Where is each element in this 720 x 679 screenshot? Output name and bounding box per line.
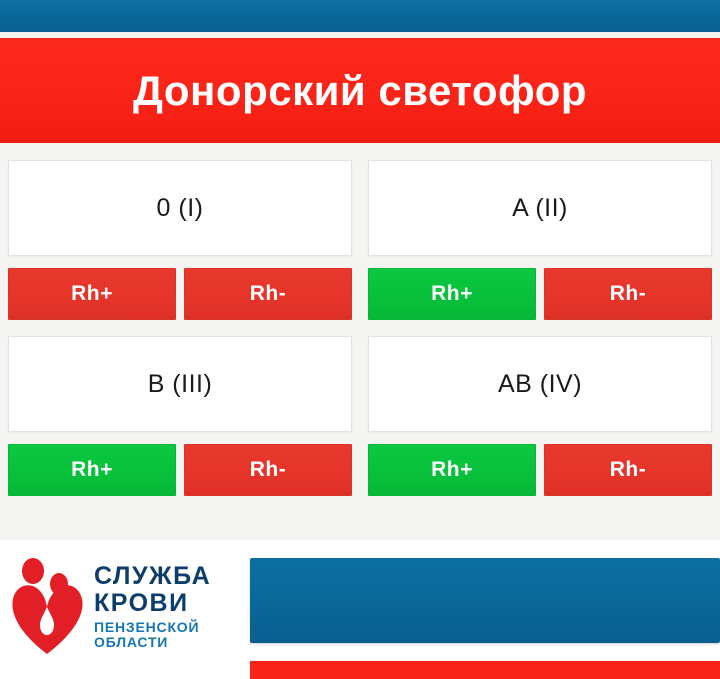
blood-type-label: A (II) bbox=[512, 194, 568, 223]
blood-group-grid: 0 (I) Rh+ Rh- A (II) Rh+ Rh- B (III) Rh+… bbox=[0, 160, 720, 512]
rh-positive-status[interactable]: Rh+ bbox=[368, 268, 536, 320]
blood-type-card[interactable]: AB (IV) bbox=[368, 336, 712, 432]
blood-group-block-2: B (III) Rh+ Rh- bbox=[0, 336, 360, 496]
blood-group-block-1: A (II) Rh+ Rh- bbox=[360, 160, 720, 320]
blood-service-logo[interactable]: СЛУЖБА КРОВИ ПЕНЗЕНСКОЙ ОБЛАСТИ bbox=[8, 554, 211, 658]
blood-type-card[interactable]: A (II) bbox=[368, 160, 712, 256]
blood-type-card[interactable]: B (III) bbox=[8, 336, 352, 432]
rh-status-row: Rh+ Rh- bbox=[368, 444, 712, 496]
rh-positive-status[interactable]: Rh+ bbox=[368, 444, 536, 496]
logo-line-region: ПЕНЗЕНСКОЙ bbox=[94, 620, 211, 634]
blood-type-label: AB (IV) bbox=[498, 370, 582, 399]
rh-negative-status[interactable]: Rh- bbox=[544, 444, 712, 496]
heart-donors-icon bbox=[8, 554, 86, 658]
rh-positive-status[interactable]: Rh+ bbox=[8, 268, 176, 320]
footer: СЛУЖБА КРОВИ ПЕНЗЕНСКОЙ ОБЛАСТИ bbox=[0, 540, 720, 679]
rh-negative-status[interactable]: Rh- bbox=[184, 444, 352, 496]
blood-type-label: B (III) bbox=[148, 370, 213, 399]
rh-status-row: Rh+ Rh- bbox=[8, 444, 352, 496]
rh-positive-status[interactable]: Rh+ bbox=[8, 444, 176, 496]
rh-negative-status[interactable]: Rh- bbox=[184, 268, 352, 320]
title-banner: Донорский светофор bbox=[0, 38, 720, 143]
logo-line-oblasti: ОБЛАСТИ bbox=[94, 635, 211, 649]
blood-group-block-3: AB (IV) Rh+ Rh- bbox=[360, 336, 720, 496]
rh-status-row: Rh+ Rh- bbox=[368, 268, 712, 320]
blood-type-card[interactable]: 0 (I) bbox=[8, 160, 352, 256]
blood-type-label: 0 (I) bbox=[157, 194, 204, 223]
blood-group-block-0: 0 (I) Rh+ Rh- bbox=[0, 160, 360, 320]
rh-status-row: Rh+ Rh- bbox=[8, 268, 352, 320]
rh-negative-status[interactable]: Rh- bbox=[544, 268, 712, 320]
logo-line-krovi: КРОВИ bbox=[94, 591, 211, 616]
poster-root: Донорский светофор 0 (I) Rh+ Rh- A (II) … bbox=[0, 0, 720, 679]
page-title: Донорский светофор bbox=[133, 70, 587, 112]
top-blue-band bbox=[0, 0, 720, 32]
footer-blue-banner bbox=[250, 558, 720, 643]
logo-line-sluzhba: СЛУЖБА bbox=[94, 564, 211, 589]
logo-wordmark: СЛУЖБА КРОВИ ПЕНЗЕНСКОЙ ОБЛАСТИ bbox=[94, 564, 211, 649]
footer-red-strip bbox=[250, 661, 720, 679]
